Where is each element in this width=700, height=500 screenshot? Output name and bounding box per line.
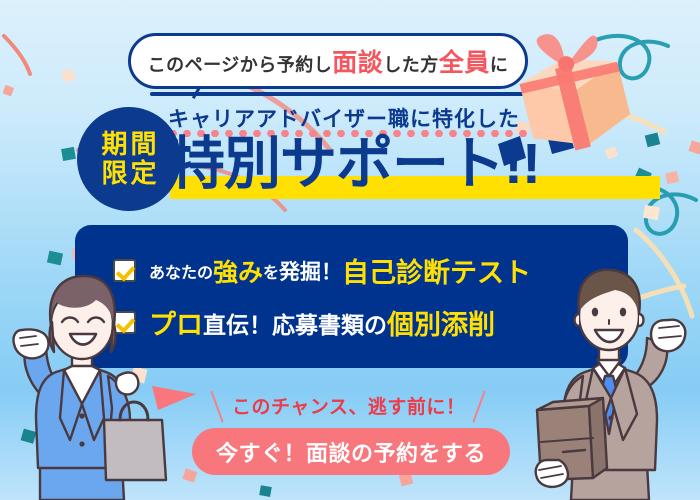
pill-highlight-1: 面談: [332, 49, 383, 77]
right-slash-mark: [472, 391, 485, 423]
badge-line-1: 期間: [98, 130, 159, 159]
feature-row-1: あなたの 強み を 発掘！ 自己診断テスト: [113, 251, 531, 290]
pill-text: このページから予約し面談した方全員に: [148, 43, 509, 79]
pill-text-1: このページから予約し: [148, 55, 333, 75]
woman-cheering-illustration: [0, 268, 171, 500]
feature-2-white-a: 直伝！応募書類の: [203, 306, 387, 340]
pill-text-2: した方: [383, 55, 439, 75]
page-title: 特別サポート!!: [168, 136, 540, 193]
left-slash-mark: [210, 391, 223, 423]
headline-wrap: 特別サポート!!: [168, 136, 540, 193]
feature-1-white-a: 発掘！: [279, 256, 342, 286]
feature-1-text-b: を: [263, 259, 279, 283]
pill-highlight-2: 全員: [439, 49, 490, 77]
chance-text: このチャンス、逃す前に！: [232, 392, 465, 419]
promo-banner: このページから予約し面談した方全員に キャリアアドバイザー職に特化した 期間 限…: [0, 0, 700, 500]
badge-line-2: 限定: [98, 159, 159, 188]
feature-1-accent-a: 強み: [213, 253, 263, 289]
feature-2-accent-b: 個別添削: [387, 303, 495, 342]
gift-box-illustration: [505, 22, 635, 154]
subtitle: キャリアアドバイザー職に特化した: [168, 103, 520, 133]
cta-label: 今すぐ！面談の予約をする: [216, 436, 486, 468]
feature-1-accent-b: 自己診断テスト: [342, 251, 531, 290]
limited-time-badge: 期間 限定: [77, 107, 181, 211]
man-cheering-illustration: [519, 264, 700, 500]
reserve-interview-button[interactable]: 今すぐ！面談の予約をする: [192, 428, 510, 475]
headline-pill: このページから予約し面談した方全員に: [128, 33, 528, 89]
